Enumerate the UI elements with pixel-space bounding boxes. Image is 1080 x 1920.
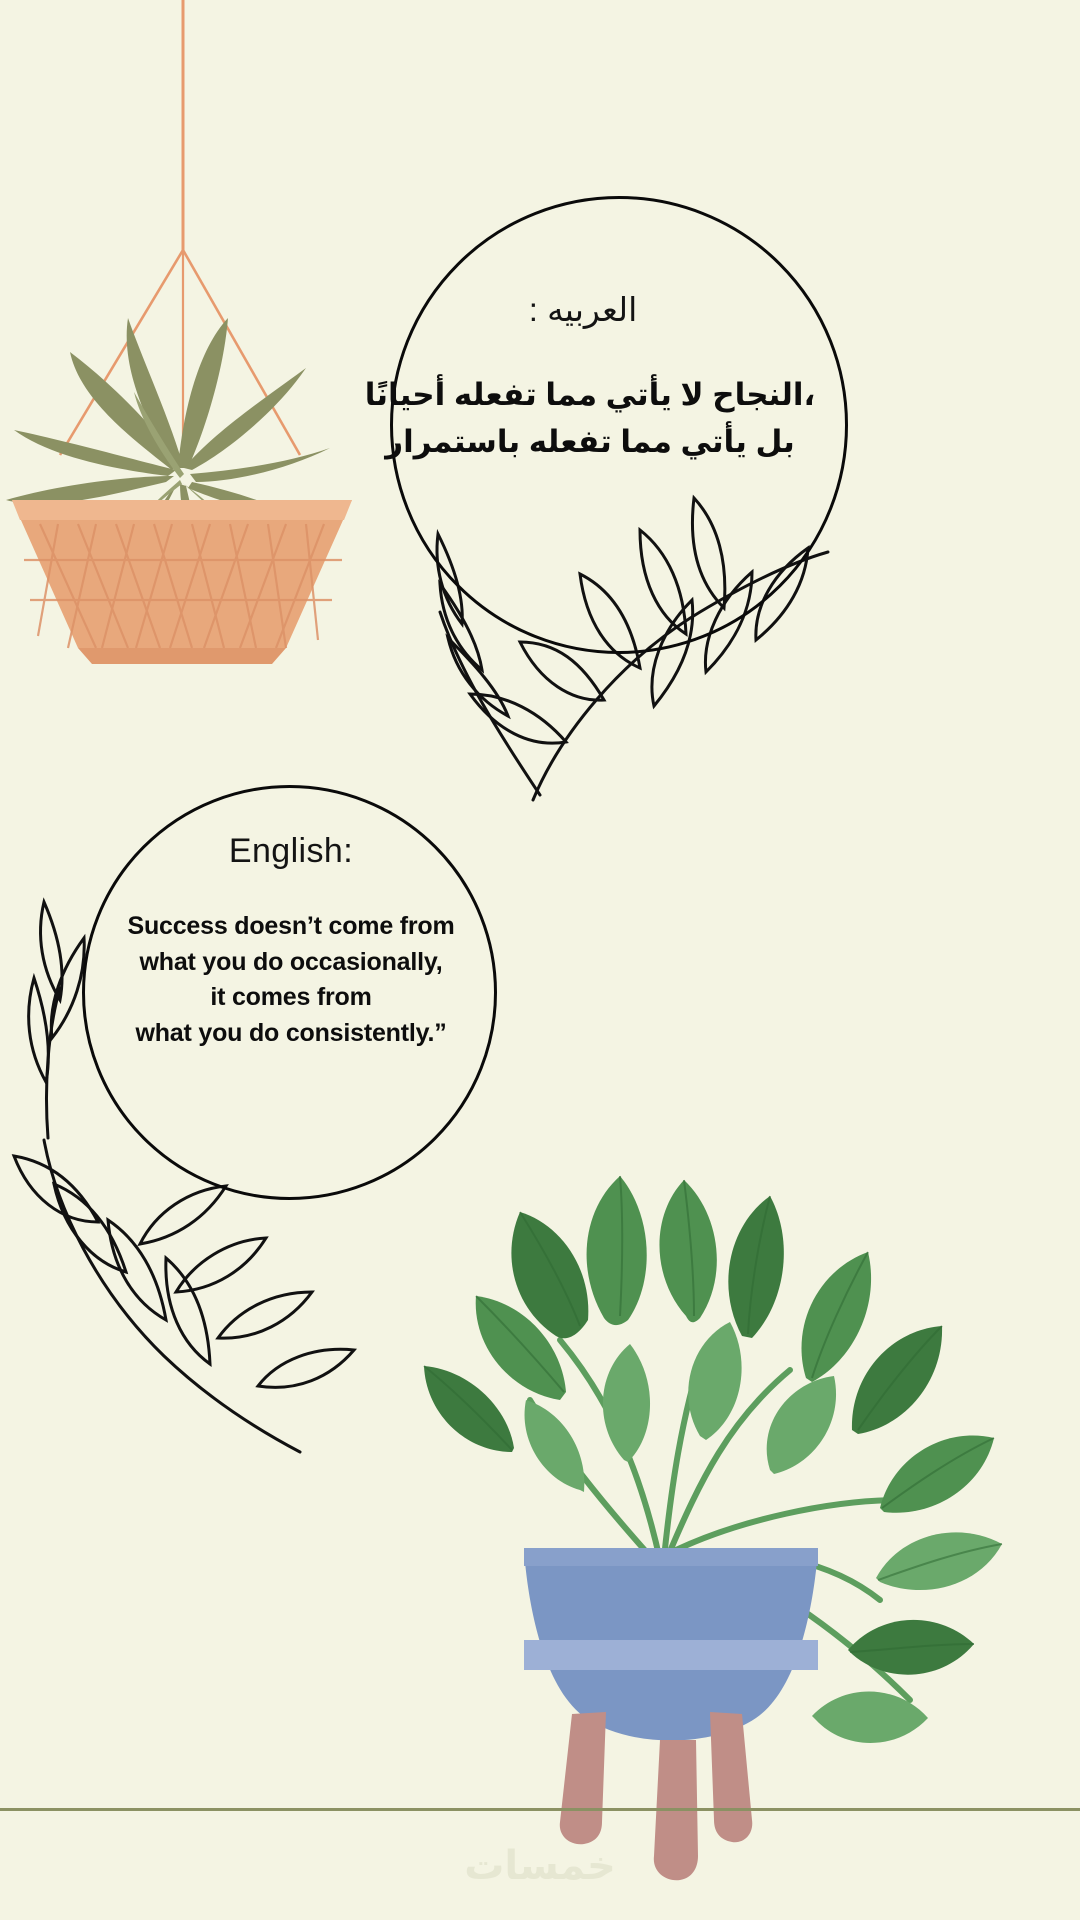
english-language-label: English: bbox=[88, 832, 494, 871]
plant-pot bbox=[524, 1548, 818, 1880]
hanging-basket bbox=[12, 500, 352, 664]
english-quote-text: Success doesn’t come from what you do oc… bbox=[88, 909, 494, 1051]
footer-divider bbox=[0, 1808, 1080, 1811]
english-quote-block: English: Success doesn’t come from what … bbox=[88, 832, 494, 1051]
english-quote-line-2: what you do occasionally, bbox=[88, 945, 494, 981]
arabic-quote-text: ،النجاح لا يأتي مما تفعله أحيانًا بل يأت… bbox=[330, 371, 850, 465]
english-quote-line-3: it comes from bbox=[88, 980, 494, 1016]
poster-canvas: العربيه : ،النجاح لا يأتي مما تفعله أحيا… bbox=[0, 0, 1080, 1920]
arabic-quote-line-1: ،النجاح لا يأتي مما تفعله أحيانًا bbox=[330, 371, 850, 418]
english-quote-line-1: Success doesn’t come from bbox=[88, 909, 494, 945]
arabic-quote-block: العربيه : ،النجاح لا يأتي مما تفعله أحيا… bbox=[330, 290, 850, 465]
watermark-label: خمسات bbox=[0, 1843, 1080, 1889]
arabic-quote-line-2: بل يأتي مما تفعله باستمرار bbox=[330, 418, 850, 465]
pothos-leaves bbox=[424, 1176, 1002, 1743]
arabic-language-label: العربيه : bbox=[330, 290, 836, 329]
hanging-plant-leaves bbox=[6, 318, 330, 606]
hanging-rope bbox=[60, 0, 300, 455]
english-quote-line-4: what you do consistently.” bbox=[88, 1016, 494, 1052]
